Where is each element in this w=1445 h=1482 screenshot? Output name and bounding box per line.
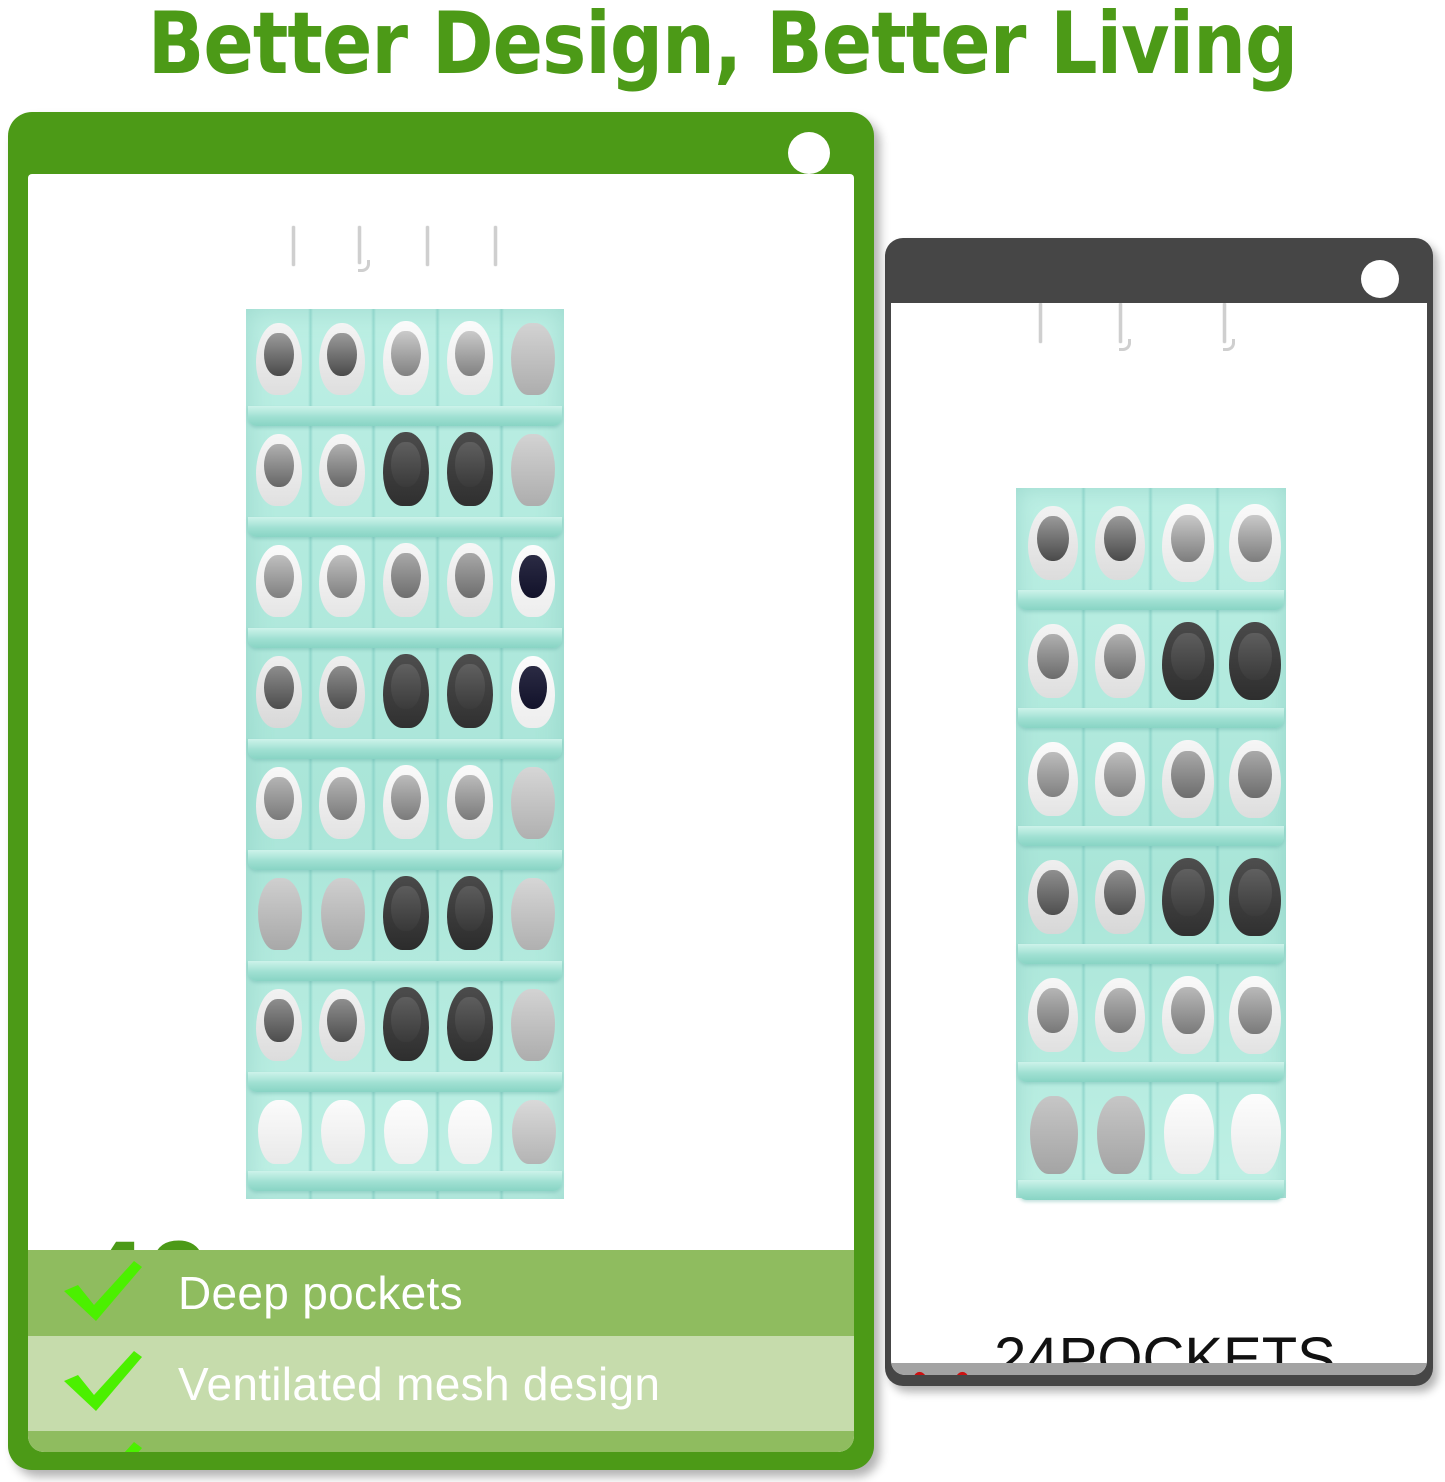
shoe [383, 876, 429, 950]
shoe [447, 654, 493, 728]
shoe [256, 767, 302, 839]
shoe [447, 321, 493, 395]
shoe [1162, 858, 1214, 936]
pocket-lip [1018, 944, 1284, 964]
shoe [256, 434, 302, 506]
check-icon [28, 1259, 178, 1328]
pocket-lip [248, 850, 562, 870]
slipper [321, 1100, 365, 1164]
slipper [511, 767, 555, 839]
slipper [511, 323, 555, 395]
shoe [511, 545, 555, 617]
slipper [512, 1100, 556, 1164]
hanging-hole-icon [1361, 260, 1399, 298]
hook-icon [1119, 339, 1131, 351]
shoe [447, 432, 493, 506]
list-item: Large capacity [28, 1431, 854, 1452]
hook-icon [1223, 339, 1235, 351]
competitor-product-photo [891, 303, 1427, 1375]
list-item: Ventilated mesh design [28, 1336, 854, 1431]
product-card-body: 40POCKETS Deep pockets Ventilated mesh d… [28, 174, 854, 1452]
shoe [1162, 504, 1214, 582]
pocket-lip [1018, 590, 1284, 610]
shoe [1028, 506, 1078, 580]
hook-icon [358, 260, 370, 272]
pocket-lip [1018, 1062, 1284, 1082]
slipper [511, 434, 555, 506]
shoe [256, 989, 302, 1061]
page-title: Better Design, Better Living [29, 0, 1416, 94]
shoe [319, 989, 365, 1061]
shoe [383, 654, 429, 728]
pocket-lip [248, 1072, 562, 1092]
hook-icon [292, 226, 295, 266]
shoe [383, 432, 429, 506]
shoe [319, 656, 365, 728]
slipper [511, 989, 555, 1061]
pocket-lip [1018, 826, 1284, 846]
shoe [447, 543, 493, 617]
shoe [1095, 506, 1145, 580]
hook-icon [358, 226, 361, 264]
slipper [321, 878, 365, 950]
shoe [383, 543, 429, 617]
shoe [383, 321, 429, 395]
shoe [1162, 740, 1214, 818]
shoe [319, 767, 365, 839]
shoe [511, 656, 555, 728]
slipper [511, 878, 555, 950]
shoe [1229, 622, 1281, 700]
pocket-lip [248, 739, 562, 759]
hook-icon [494, 226, 497, 266]
hook-icon [426, 226, 429, 266]
shoe [1028, 978, 1078, 1052]
hook-icon [1039, 303, 1042, 343]
comparison-card-product: 40POCKETS Deep pockets Ventilated mesh d… [8, 112, 874, 1470]
slipper [258, 878, 302, 950]
slipper [1030, 1096, 1078, 1174]
shoe [1095, 978, 1145, 1052]
list-item-label: Ventilated mesh design [178, 1357, 660, 1411]
product-feature-list: Deep pockets Ventilated mesh design Larg… [28, 1250, 854, 1452]
slipper [258, 1100, 302, 1164]
list-item-label: Deep pockets [178, 1266, 463, 1320]
slipper [1097, 1096, 1145, 1174]
pocket-lip [248, 961, 562, 981]
check-icon [28, 1349, 178, 1418]
shoe [1229, 976, 1281, 1054]
shoe [1095, 860, 1145, 934]
shoe [256, 545, 302, 617]
slipper [1164, 1094, 1214, 1174]
organizer-body [246, 309, 564, 1199]
list-item: Shallow pockets [891, 1363, 1427, 1375]
comparison-card-competitor: 24POCKETS Shallow pockets Stuffy compart… [885, 238, 1433, 1386]
hook-icon [1223, 303, 1226, 343]
competitor-card-body: 24POCKETS Shallow pockets Stuffy compart… [891, 303, 1427, 1375]
shoe [256, 323, 302, 395]
shoe [1095, 624, 1145, 698]
hook-icon [1119, 303, 1122, 343]
shoe [383, 987, 429, 1061]
shoe [1162, 622, 1214, 700]
shoe [1229, 858, 1281, 936]
pocket-lip [248, 517, 562, 537]
shoe [447, 876, 493, 950]
pocket-lip [1018, 708, 1284, 728]
shoe [1229, 504, 1281, 582]
shoe [1028, 860, 1078, 934]
list-item-label: Large capacity [178, 1447, 481, 1452]
shoe [319, 434, 365, 506]
pocket-lip [1018, 1180, 1284, 1200]
pocket-lip [248, 406, 562, 426]
shoe [383, 765, 429, 839]
list-item: Deep pockets [28, 1250, 854, 1336]
hanging-hole-icon [788, 132, 830, 174]
shoe [447, 765, 493, 839]
check-icon [28, 1440, 178, 1453]
slipper [1231, 1094, 1281, 1174]
cross-icon [891, 1370, 991, 1376]
shoe [1028, 624, 1078, 698]
shoe [1028, 742, 1078, 816]
shoe [319, 323, 365, 395]
shoe [447, 987, 493, 1061]
pocket-lip [248, 1171, 562, 1191]
shoe [1095, 742, 1145, 816]
competitor-feature-list: Shallow pockets Stuffy compartments Limi… [891, 1363, 1427, 1375]
pocket-lip [248, 628, 562, 648]
slipper [384, 1100, 428, 1164]
shoe [1229, 740, 1281, 818]
organizer-body [1016, 488, 1286, 1198]
shoe [319, 545, 365, 617]
shoe [256, 656, 302, 728]
slipper [448, 1100, 492, 1164]
shoe [1162, 976, 1214, 1054]
